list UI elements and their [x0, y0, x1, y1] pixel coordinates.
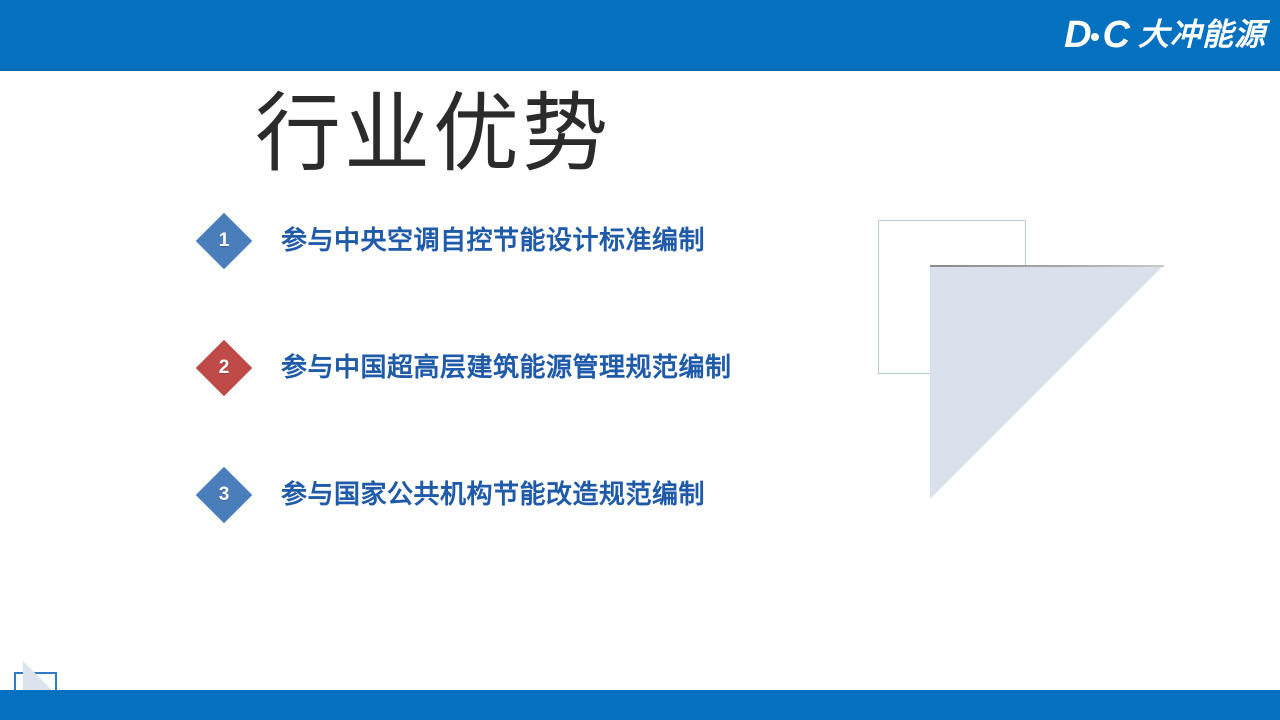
- list-item-label: 参与中央空调自控节能设计标准编制: [281, 224, 705, 258]
- list-item-label: 参与国家公共机构节能改造规范编制: [281, 478, 705, 512]
- diamond-number: 2: [196, 340, 252, 396]
- company-logo: D C 大冲能源: [1064, 13, 1266, 57]
- list-item-label: 参与中国超高层建筑能源管理规范编制: [281, 351, 732, 385]
- logo-company-name: 大冲能源: [1138, 18, 1266, 52]
- list-item: 1 参与中央空调自控节能设计标准编制: [196, 213, 836, 269]
- decorative-triangle: [930, 265, 1164, 499]
- header-bar: D C 大冲能源: [0, 0, 1280, 71]
- diamond-number: 1: [196, 213, 252, 269]
- footer-bar: [0, 690, 1280, 720]
- diamond-marker-2: 2: [196, 340, 252, 396]
- list-item: 2 参与中国超高层建筑能源管理规范编制: [196, 340, 836, 396]
- presentation-slide: D C 大冲能源 行业优势 1 参与中央空调自控节能设计标准编制 2 参与中国超…: [0, 0, 1280, 720]
- diamond-marker-1: 1: [196, 213, 252, 269]
- logo-letter-d: D: [1064, 16, 1090, 54]
- header-bar-bottom-edge: [0, 69, 1280, 71]
- logo-mark-dc: D C: [1064, 16, 1129, 54]
- decorative-triangle-top-edge: [930, 265, 1164, 267]
- list-item: 3 参与国家公共机构节能改造规范编制: [196, 467, 836, 523]
- page-title: 行业优势: [255, 84, 611, 184]
- diamond-number: 3: [196, 467, 252, 523]
- logo-letter-c: C: [1103, 16, 1129, 54]
- logo-dot-icon: [1091, 33, 1099, 41]
- bullet-list: 1 参与中央空调自控节能设计标准编制 2 参与中国超高层建筑能源管理规范编制 3…: [196, 213, 836, 523]
- diamond-marker-3: 3: [196, 467, 252, 523]
